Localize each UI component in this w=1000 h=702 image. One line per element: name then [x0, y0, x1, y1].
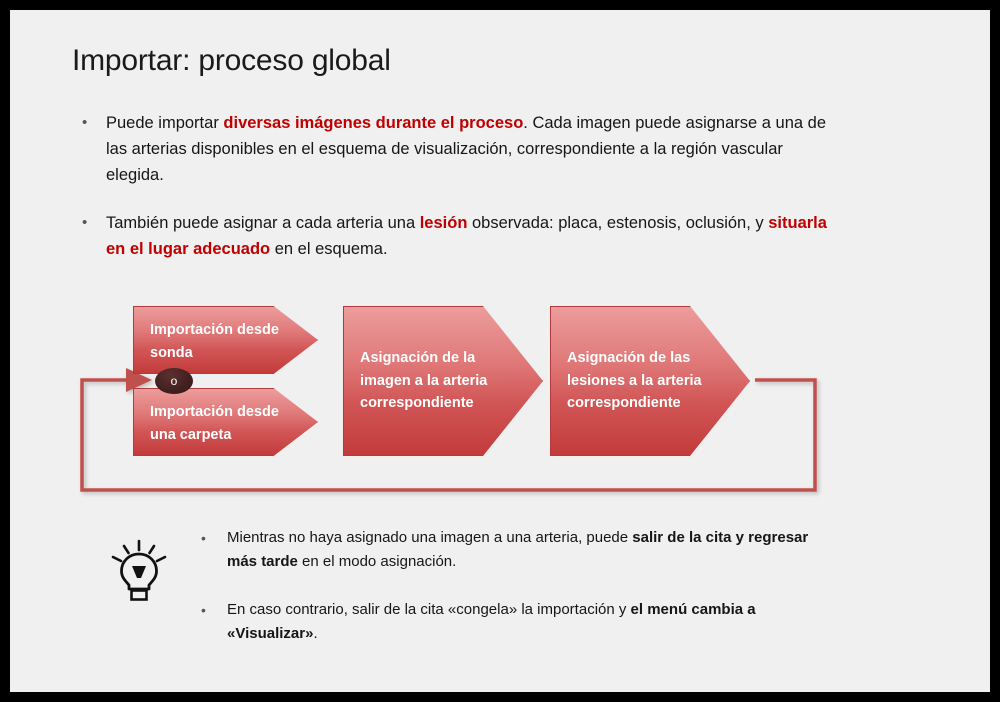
flow-step-label: Asignación de las lesiones a la arteria … [567, 347, 719, 415]
highlighted-text: lesión [420, 214, 468, 232]
flow-step-label: Importación desde una carpeta [150, 401, 287, 446]
body-text: en el modo asignación. [298, 553, 456, 570]
bullet-marker-icon: • [82, 110, 87, 136]
page-title: Importar: proceso global [72, 44, 391, 78]
slide-canvas: Importar: proceso global •Puede importar… [10, 10, 990, 692]
lightbulb-icon [108, 537, 170, 605]
body-text: . [313, 625, 317, 642]
body-text: En caso contrario, salir de la cita «con… [227, 601, 631, 618]
body-text: observada: placa, estenosis, oclusión, y [467, 214, 768, 232]
intro-bullet-1: •También puede asignar a cada arteria un… [76, 210, 836, 262]
intro-bullet-0: •Puede importar diversas imágenes durant… [76, 110, 836, 188]
bullet-marker-icon: • [201, 598, 206, 622]
bullet-marker-icon: • [82, 210, 87, 236]
tip-bullet-1: •En caso contrario, salir de la cita «co… [195, 598, 815, 646]
bullet-marker-icon: • [201, 526, 206, 550]
body-text: Mientras no haya asignado una imagen a u… [227, 529, 632, 546]
body-text: También puede asignar a cada arteria una [106, 214, 420, 232]
or-connector-badge: o [155, 368, 193, 394]
tip-bullet-0: •Mientras no haya asignado una imagen a … [195, 526, 815, 574]
body-text: Puede importar [106, 114, 223, 132]
body-text: en el esquema. [270, 240, 387, 258]
intro-bullet-list: •Puede importar diversas imágenes durant… [76, 110, 836, 284]
flow-step-label: Importación desde sonda [150, 319, 287, 364]
highlighted-text: diversas imágenes durante el proceso [223, 114, 523, 132]
flow-step-label: Asignación de la imagen a la arteria cor… [360, 347, 512, 415]
tips-bullet-list: •Mientras no haya asignado una imagen a … [195, 526, 815, 670]
process-flow-diagram: Importación desde sonda Importación desd… [10, 288, 990, 518]
